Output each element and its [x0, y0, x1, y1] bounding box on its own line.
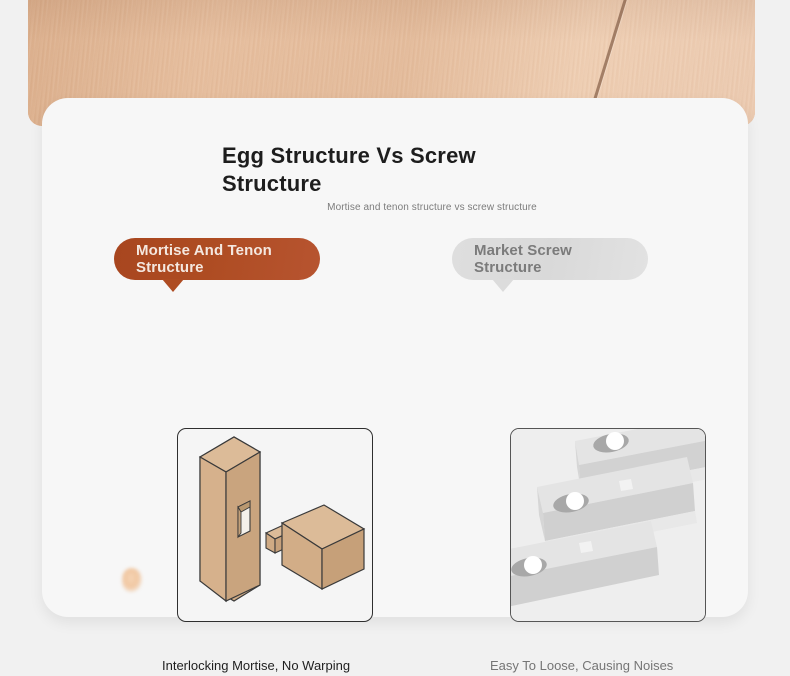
caption-mortise: Interlocking Mortise, No Warping — [162, 656, 412, 676]
page-subtitle: Mortise and tenon structure vs screw str… — [222, 202, 642, 213]
badge-mortise-and-tenon[interactable]: Mortise And Tenon Structure — [114, 238, 320, 280]
page-stage: Egg Structure Vs Screw Structure Mortise… — [0, 0, 790, 656]
comparison-column-mortise: Mortise And Tenon Structure — [114, 238, 414, 280]
mortise-and-tenon-illustration — [177, 428, 373, 622]
comparison-card: Egg Structure Vs Screw Structure Mortise… — [42, 98, 748, 617]
badge-pointer-icon — [162, 279, 184, 292]
page-title: Egg Structure Vs Screw Structure — [222, 142, 552, 198]
badge-screw-label: Market Screw Structure — [474, 242, 634, 276]
badge-mortise-label: Mortise And Tenon Structure — [136, 242, 306, 276]
mortise-and-tenon-diagram-icon — [178, 429, 372, 621]
screwed-planks-illustration — [510, 428, 706, 622]
badge-pointer-icon — [492, 279, 514, 292]
badge-market-screw[interactable]: Market Screw Structure — [452, 238, 648, 280]
screwed-planks-diagram-icon — [511, 429, 705, 621]
caption-screw: Easy To Loose, Causing Noises — [490, 656, 740, 676]
comparison-column-screw: Market Screw Structure — [452, 238, 752, 280]
